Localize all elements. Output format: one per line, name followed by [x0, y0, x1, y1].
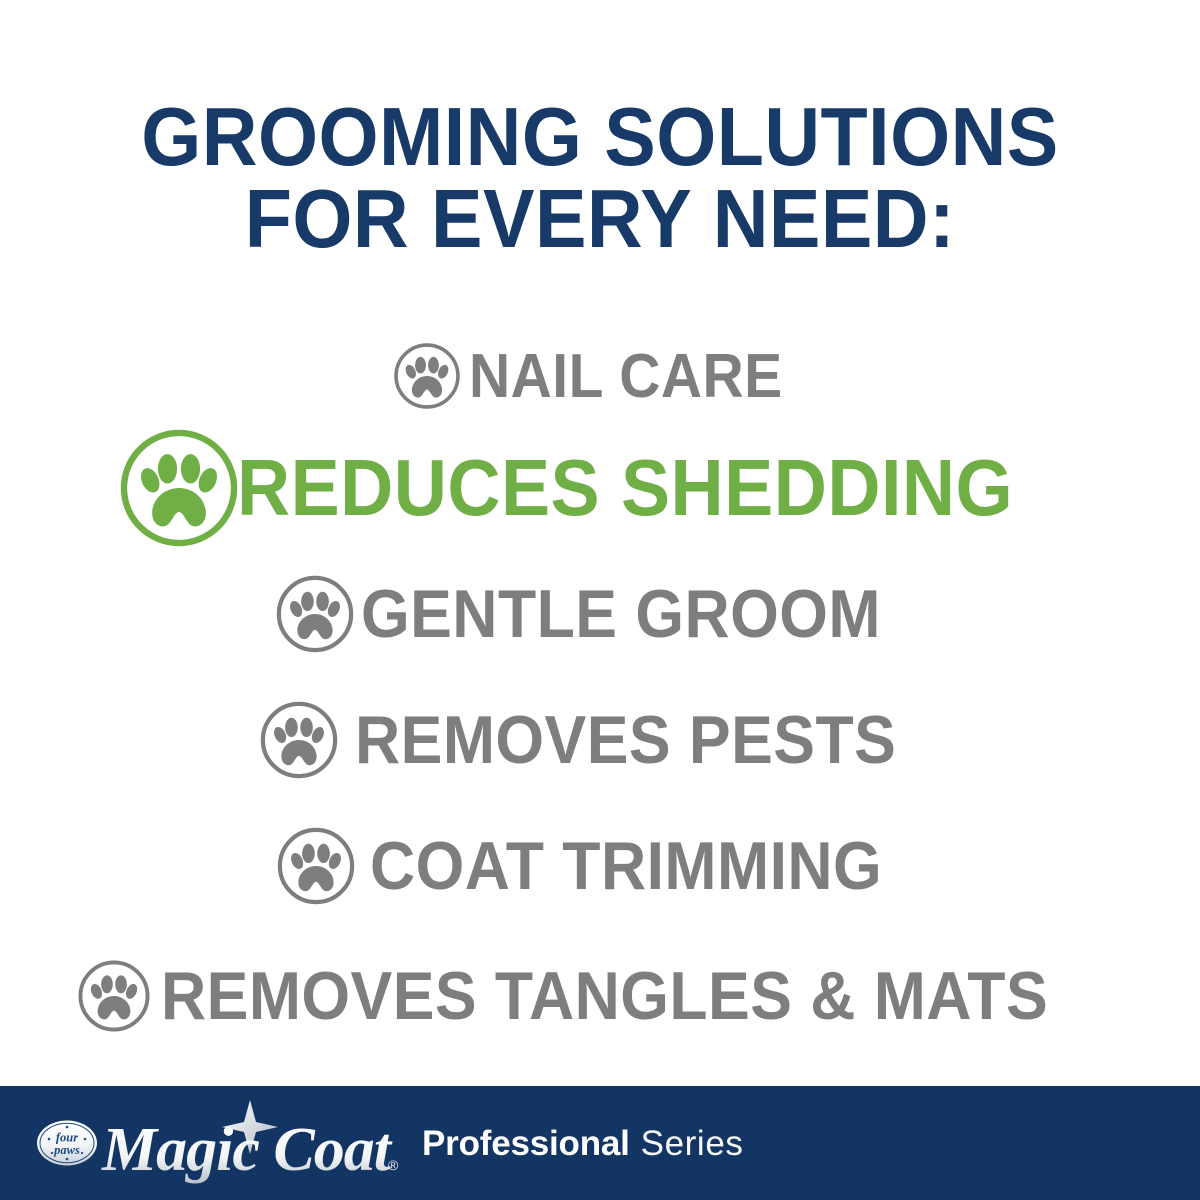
tagline: Professional Series	[422, 1126, 743, 1161]
tagline-bold: Professional	[422, 1126, 630, 1161]
list-item-label: GENTLE GROOM	[361, 575, 881, 653]
list-item-label: NAIL CARE	[469, 341, 783, 412]
list-item-label: REDUCES SHEDDING	[237, 442, 1013, 534]
svg-text:four: four	[56, 1131, 78, 1145]
paw-print-circle-icon	[274, 824, 358, 908]
svg-text:®: ®	[388, 1157, 399, 1173]
brand-lockup: four paws	[36, 1098, 743, 1189]
promo-graphic: GROOMING SOLUTIONS FOR EVERY NEED: NAIL …	[0, 0, 1200, 1200]
page-title-line-1: GROOMING SOLUTIONS	[42, 96, 1158, 178]
paw-print-circle-icon	[257, 698, 341, 782]
list-item: COAT TRIMMING	[0, 814, 1200, 918]
paw-print-circle-icon	[273, 572, 357, 656]
list-item-label: COAT TRIMMING	[370, 827, 882, 905]
svg-text:Magic Coat: Magic Coat	[101, 1116, 393, 1184]
magic-coat-wordmark: Magic Coat ®	[100, 1098, 400, 1189]
list-item-label: REMOVES TANGLES & MATS	[161, 957, 1048, 1035]
feature-list: NAIL CARE REDUCES SHEDDING	[0, 330, 1200, 1048]
page-title: GROOMING SOLUTIONS FOR EVERY NEED:	[42, 96, 1158, 260]
list-item-label: REMOVES PESTS	[355, 701, 896, 779]
four-paws-oval-badge-icon: four paws	[36, 1119, 98, 1167]
svg-text:paws: paws	[53, 1143, 80, 1157]
list-item: REMOVES PESTS	[0, 688, 1200, 792]
list-item: REMOVES TANGLES & MATS	[0, 944, 1200, 1048]
page-title-line-2: FOR EVERY NEED:	[42, 178, 1158, 260]
paw-print-circle-icon	[75, 957, 153, 1035]
paw-print-circle-icon	[115, 424, 243, 552]
paw-print-circle-icon	[391, 340, 463, 412]
list-item: GENTLE GROOM	[0, 562, 1200, 666]
list-item: NAIL CARE	[0, 330, 1200, 422]
tagline-light: Series	[641, 1126, 744, 1161]
brand-banner: four paws	[0, 1086, 1200, 1200]
list-item-highlighted: REDUCES SHEDDING	[0, 422, 1200, 554]
